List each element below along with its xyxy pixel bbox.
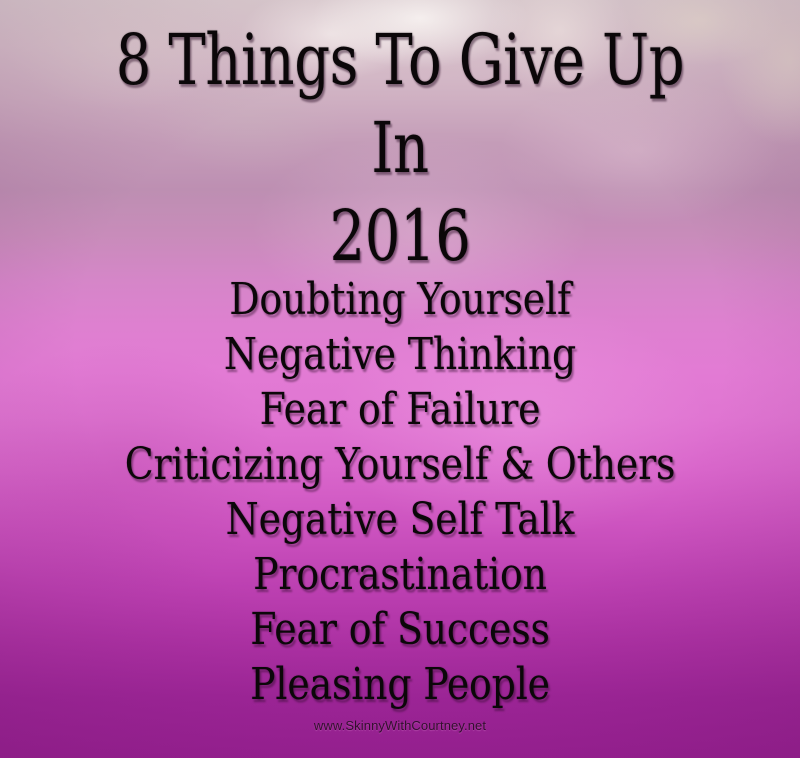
- poster-title: 8 Things To Give Up In 2016: [80, 16, 720, 280]
- give-up-list: Doubting Yourself Negative Thinking Fear…: [56, 272, 744, 712]
- motivational-poster: 8 Things To Give Up In 2016 Doubting You…: [0, 0, 800, 758]
- list-item: Pleasing People: [56, 657, 744, 712]
- list-item: Fear of Failure: [56, 382, 744, 437]
- poster-content: 8 Things To Give Up In 2016 Doubting You…: [0, 0, 800, 758]
- list-item: Negative Self Talk: [56, 492, 744, 547]
- website-watermark: www.SkinnyWithCourtney.net: [0, 718, 800, 734]
- list-item: Fear of Success: [56, 602, 744, 657]
- list-item: Criticizing Yourself & Others: [56, 437, 744, 492]
- list-item: Procrastination: [56, 547, 744, 602]
- list-item: Doubting Yourself: [56, 272, 744, 327]
- list-item: Negative Thinking: [56, 327, 744, 382]
